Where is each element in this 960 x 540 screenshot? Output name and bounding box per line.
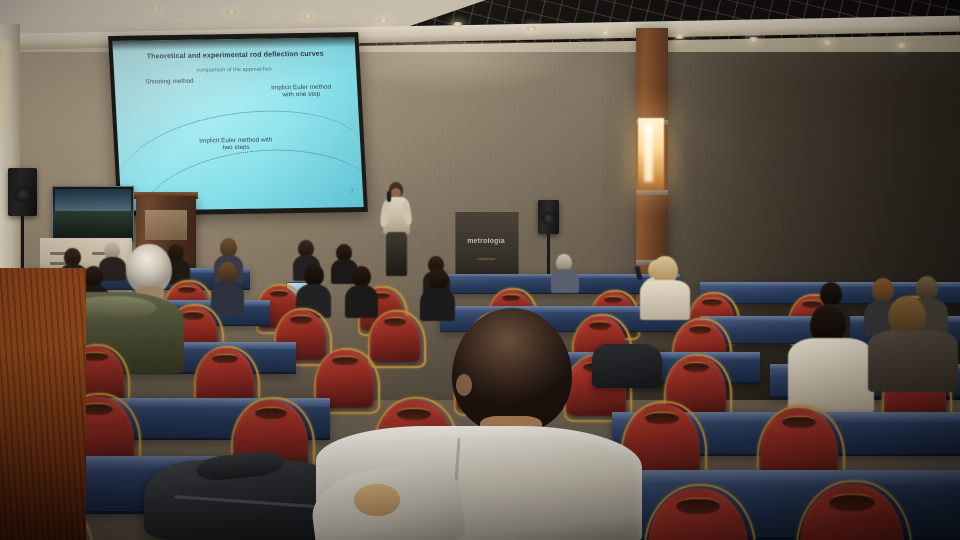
foreground-attendee-ear bbox=[456, 374, 472, 396]
chair-handle-hole bbox=[645, 412, 678, 424]
attendee-torso bbox=[868, 330, 958, 392]
chair-handle-hole bbox=[212, 354, 238, 364]
chair-handle-hole bbox=[683, 362, 709, 372]
chair-handle-hole bbox=[829, 494, 875, 511]
carpet-left-aisle bbox=[0, 268, 86, 540]
banquet-chair[interactable] bbox=[648, 488, 748, 540]
chair-handle-hole bbox=[82, 352, 108, 362]
downlight-icon bbox=[452, 22, 463, 27]
downlight-icon bbox=[748, 37, 759, 42]
banquet-chair[interactable] bbox=[800, 484, 904, 540]
chair-handle-hole bbox=[782, 416, 816, 429]
conference-room-photo: Theoretical and experimental rod deflect… bbox=[0, 0, 960, 540]
downlight-icon bbox=[600, 30, 611, 35]
sconce-core bbox=[644, 124, 653, 182]
downlight-icon bbox=[674, 34, 685, 39]
attendee-head bbox=[428, 268, 448, 290]
pilaster-band bbox=[636, 190, 668, 195]
chair-handle-hole bbox=[676, 498, 720, 514]
foreground-attendee-hand bbox=[354, 484, 400, 516]
attendee-head bbox=[304, 264, 324, 286]
projection-screen: Theoretical and experimental rod deflect… bbox=[112, 37, 363, 211]
microphone-icon bbox=[387, 191, 391, 202]
pa-driver-icon bbox=[14, 186, 31, 203]
downlight-icon bbox=[896, 43, 907, 48]
foreground-attendee-head bbox=[452, 308, 572, 432]
downlight-icon bbox=[526, 26, 537, 31]
attendee-patterned-scarf bbox=[868, 296, 960, 392]
downlight-icon bbox=[150, 6, 161, 11]
downlight-icon bbox=[302, 14, 313, 19]
chair-handle-hole bbox=[290, 315, 312, 324]
downlight-icon bbox=[226, 10, 237, 15]
projection-screen-frame: Theoretical and experimental rod deflect… bbox=[108, 32, 368, 216]
attendee-head bbox=[352, 266, 371, 287]
chair-handle-hole bbox=[689, 325, 712, 334]
pa-driver-icon bbox=[542, 212, 555, 225]
foreground-attendee bbox=[330, 308, 650, 540]
downlight-icon bbox=[822, 40, 833, 45]
left-wall-light bbox=[0, 40, 9, 132]
screen-sheen bbox=[112, 37, 363, 211]
downlight-icon bbox=[378, 18, 389, 23]
attendee-head bbox=[218, 262, 237, 283]
banner-sky bbox=[55, 189, 131, 211]
